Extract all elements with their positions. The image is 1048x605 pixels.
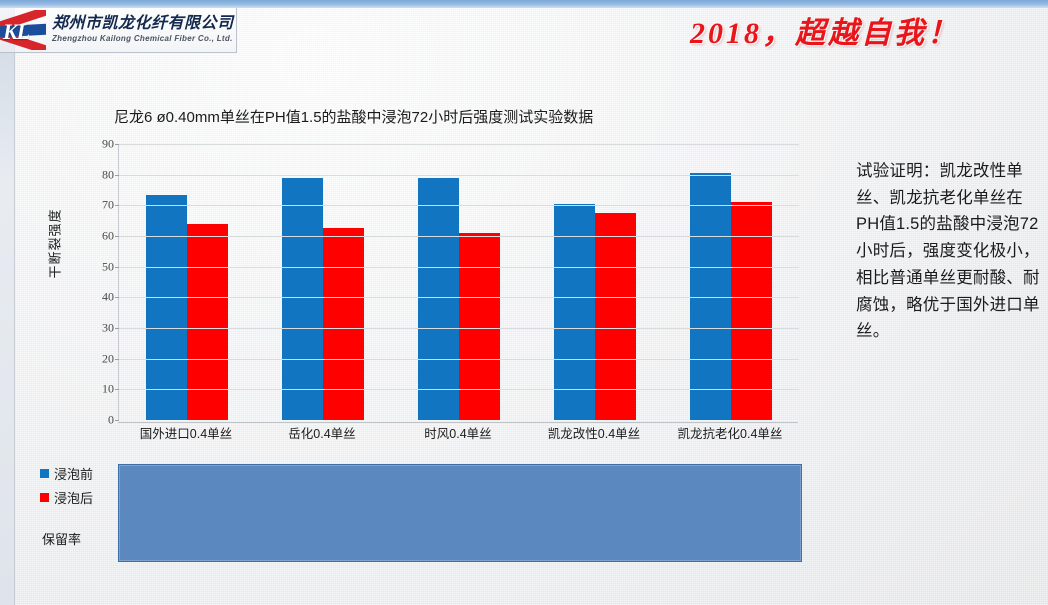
logo-letter: KL xyxy=(3,19,29,45)
y-axis-tick-mark xyxy=(115,359,119,360)
x-axis-label: 凯龙抗老化0.4单丝 xyxy=(662,423,798,443)
gridline xyxy=(119,236,799,237)
gridline xyxy=(119,144,799,145)
bar-after[interactable] xyxy=(731,202,772,420)
conclusion-note: 试验证明：凯龙改性单丝、凯龙抗老化单丝在PH值1.5的盐酸中浸泡72小时后，强度… xyxy=(856,158,1042,345)
y-axis-tick-label: 50 xyxy=(102,259,114,274)
y-axis-tick-label: 40 xyxy=(102,290,114,305)
y-axis-tick-mark xyxy=(115,297,119,298)
legend-swatch-icon-before xyxy=(40,469,49,478)
company-name-en: Zhengzhou Kailong Chemical Fiber Co., Lt… xyxy=(52,35,234,43)
gridline xyxy=(119,359,799,360)
slide-title: 2018，超越自我！ xyxy=(620,8,1030,52)
y-axis-tick-label: 80 xyxy=(102,167,114,182)
bar-after[interactable] xyxy=(187,224,228,420)
legend-item-before: 浸泡前 xyxy=(40,464,120,483)
y-axis-tick-label: 60 xyxy=(102,229,114,244)
bar-before[interactable] xyxy=(146,195,187,420)
x-axis-label: 凯龙改性0.4单丝 xyxy=(526,423,662,443)
y-axis-tick-label: 10 xyxy=(102,382,114,397)
gridline xyxy=(119,328,799,329)
y-axis-tick-label: 20 xyxy=(102,351,114,366)
bar-before[interactable] xyxy=(282,178,323,420)
legend-label-retention: 保留率 xyxy=(42,529,81,548)
gridline xyxy=(119,389,799,390)
legend-swatch-icon-after xyxy=(40,493,49,502)
y-axis-ticks: 0102030405060708090 xyxy=(84,144,114,420)
company-logo-icon: KL xyxy=(0,10,46,50)
y-axis-tick-mark xyxy=(115,328,119,329)
chart-legend: 浸泡前 浸泡后 保留率 xyxy=(40,464,120,553)
left-accent-strip xyxy=(0,0,15,605)
company-name-block: 郑州市凯龙化纤有限公司 Zhengzhou Kailong Chemical F… xyxy=(46,16,234,43)
legend-label-after: 浸泡后 xyxy=(54,488,93,507)
gridline xyxy=(119,175,799,176)
bar-group xyxy=(119,144,255,420)
x-axis-labels: 国外进口0.4单丝岳化0.4单丝时风0.4单丝凯龙改性0.4单丝凯龙抗老化0.4… xyxy=(118,422,798,443)
x-axis-label: 国外进口0.4单丝 xyxy=(118,423,254,443)
x-axis-label: 时风0.4单丝 xyxy=(390,423,526,443)
company-logo-block: KL 郑州市凯龙化纤有限公司 Zhengzhou Kailong Chemica… xyxy=(0,8,237,53)
y-axis-tick-label: 0 xyxy=(108,413,114,428)
retention-data-table xyxy=(118,464,802,562)
bar-series-container xyxy=(119,144,799,420)
chart-title: 尼龙6 ø0.40mm单丝在PH值1.5的盐酸中浸泡72小时后强度测试实验数据 xyxy=(114,106,593,127)
company-name-cn: 郑州市凯龙化纤有限公司 xyxy=(52,16,234,33)
y-axis-tick-label: 70 xyxy=(102,198,114,213)
y-axis-tick-mark xyxy=(115,175,119,176)
y-axis-tick-mark xyxy=(115,236,119,237)
y-axis-tick-label: 30 xyxy=(102,321,114,336)
bar-group xyxy=(391,144,527,420)
x-axis-label: 岳化0.4单丝 xyxy=(254,423,390,443)
legend-item-after: 浸泡后 xyxy=(40,488,120,507)
gridline xyxy=(119,267,799,268)
gridline xyxy=(119,205,799,206)
legend-label-before: 浸泡前 xyxy=(54,464,93,483)
bar-group xyxy=(255,144,391,420)
legend-item-retention: 保留率 xyxy=(40,529,120,548)
y-axis-tick-mark xyxy=(115,420,119,421)
bar-group xyxy=(527,144,663,420)
y-axis-tick-mark xyxy=(115,267,119,268)
bar-before[interactable] xyxy=(418,178,459,420)
bar-after[interactable] xyxy=(459,233,500,420)
y-axis-tick-label: 90 xyxy=(102,137,114,152)
header-band xyxy=(0,0,1048,8)
y-axis-tick-mark xyxy=(115,205,119,206)
gridline xyxy=(119,297,799,298)
bar-after[interactable] xyxy=(323,228,364,420)
y-axis-title: 干断裂强度 xyxy=(45,194,64,294)
bar-group xyxy=(663,144,799,420)
slide-canvas: KL 郑州市凯龙化纤有限公司 Zhengzhou Kailong Chemica… xyxy=(0,0,1048,605)
y-axis-tick-mark xyxy=(115,144,119,145)
chart-panel: 尼龙6 ø0.40mm单丝在PH值1.5的盐酸中浸泡72小时后强度测试实验数据 … xyxy=(26,96,816,576)
y-axis-tick-mark xyxy=(115,389,119,390)
plot-area xyxy=(118,144,799,420)
plot-wrapper: 干断裂强度 0102030405060708090 国外进口0.4单丝岳化0.4… xyxy=(26,144,816,426)
